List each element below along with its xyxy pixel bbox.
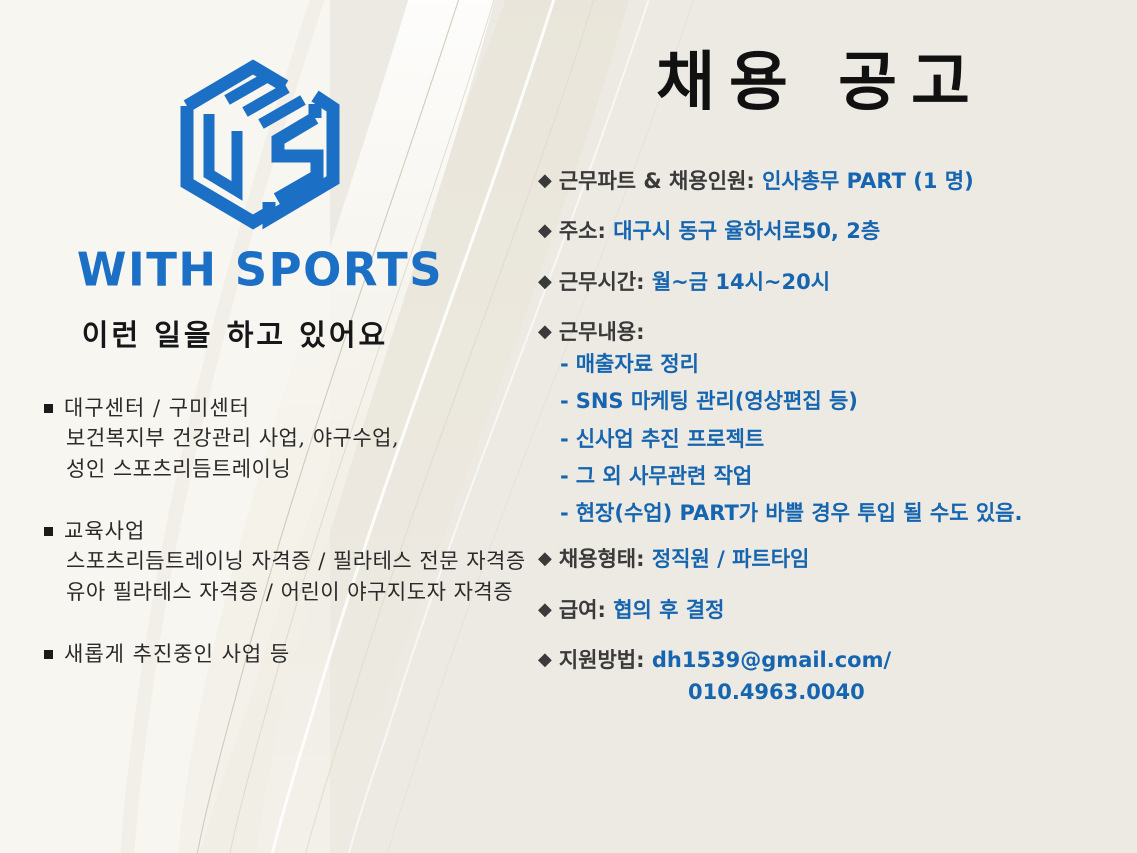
duty-item: -매출자료 정리: [538, 351, 1137, 377]
business-block-line: 성인 스포츠리듬트레이닝: [44, 454, 544, 484]
detail-row-work-part: ◆ 근무파트 & 채용인원: 인사총무 PART (1 명): [538, 168, 1137, 194]
diamond-bullet-icon: ◆: [538, 597, 552, 623]
job-duties-list: -매출자료 정리 -SNS 마케팅 관리(영상편집 등) -신사업 추진 프로젝…: [538, 351, 1137, 526]
diamond-bullet-icon: ◆: [538, 218, 552, 244]
duty-item: -현장(수업) PART가 바쁠 경우 투입 될 수도 있음.: [538, 500, 1137, 526]
with-sports-monogram-icon: [165, 52, 355, 237]
business-block-title-row: 교육사업: [44, 518, 544, 544]
duty-text: 현장(수업) PART가 바쁠 경우 투입 될 수도 있음.: [576, 501, 1023, 525]
diamond-bullet-icon: ◆: [538, 647, 552, 673]
job-details-list: ◆ 근무파트 & 채용인원: 인사총무 PART (1 명) ◆ 주소: 대구시…: [538, 168, 1137, 704]
detail-value: 인사총무 PART (1 명): [762, 168, 974, 194]
dash-bullet-icon: -: [560, 464, 569, 488]
detail-label: 근무내용:: [559, 319, 645, 345]
duty-text: SNS 마케팅 관리(영상편집 등): [576, 389, 858, 413]
detail-label: 지원방법:: [559, 647, 652, 673]
duty-item: -SNS 마케팅 관리(영상편집 등): [538, 388, 1137, 414]
right-column: 채용 공고 ◆ 근무파트 & 채용인원: 인사총무 PART (1 명) ◆ 주…: [520, 0, 1137, 853]
business-block-line: 보건복지부 건강관리 사업, 야구수업,: [44, 423, 544, 453]
detail-row-job-duties-header: ◆ 근무내용:: [538, 319, 1137, 345]
detail-row-salary: ◆ 급여: 협의 후 결정: [538, 597, 1137, 623]
business-block-title-row: 대구센터 / 구미센터: [44, 395, 544, 421]
detail-value: 협의 후 결정: [613, 597, 724, 623]
brand-logo: WITH SPORTS: [0, 52, 520, 292]
duty-item: -신사업 추진 프로젝트: [538, 426, 1137, 452]
detail-value: 대구시 동구 율하서로50, 2층: [613, 218, 880, 244]
duty-text: 매출자료 정리: [576, 352, 699, 376]
detail-label: 근무파트 & 채용인원:: [559, 168, 762, 194]
detail-row-apply-method: ◆ 지원방법: dh1539@gmail.com/: [538, 647, 1137, 673]
dash-bullet-icon: -: [560, 389, 569, 413]
diamond-bullet-icon: ◆: [538, 546, 552, 572]
left-column: WITH SPORTS 이런 일을 하고 있어요 대구센터 / 구미센터 보건복…: [0, 0, 520, 853]
detail-row-work-hours: ◆ 근무시간: 월~금 14시~20시: [538, 269, 1137, 295]
dash-bullet-icon: -: [560, 427, 569, 451]
business-block-title: 새롭게 추진중인 사업 등: [64, 641, 290, 667]
dash-bullet-icon: -: [560, 352, 569, 376]
business-block: 새롭게 추진중인 사업 등: [44, 641, 544, 667]
business-block-title: 대구센터 / 구미센터: [64, 395, 250, 421]
square-bullet-icon: [44, 650, 53, 659]
job-posting-poster: WITH SPORTS 이런 일을 하고 있어요 대구센터 / 구미센터 보건복…: [0, 0, 1137, 853]
detail-value: 정직원 / 파트타임: [652, 546, 810, 572]
detail-label: 근무시간:: [559, 269, 652, 295]
business-block: 대구센터 / 구미센터 보건복지부 건강관리 사업, 야구수업, 성인 스포츠리…: [44, 395, 544, 484]
page-title: 채용 공고: [520, 48, 1120, 118]
detail-row-employment-type: ◆ 채용형태: 정직원 / 파트타임: [538, 546, 1137, 572]
business-block-line: 스포츠리듬트레이닝 자격증 / 필라테스 전문 자격증: [44, 546, 544, 576]
detail-label: 주소:: [559, 218, 613, 244]
detail-value: 월~금 14시~20시: [652, 269, 830, 295]
duty-item: -그 외 사무관련 작업: [538, 463, 1137, 489]
left-business-blocks: 대구센터 / 구미센터 보건복지부 건강관리 사업, 야구수업, 성인 스포츠리…: [44, 395, 544, 702]
contact-phone[interactable]: 010.4963.0040: [538, 680, 1137, 704]
dash-bullet-icon: -: [560, 501, 569, 525]
detail-label: 채용형태:: [559, 546, 652, 572]
contact-email[interactable]: dh1539@gmail.com/: [652, 647, 891, 673]
diamond-bullet-icon: ◆: [538, 319, 552, 345]
diamond-bullet-icon: ◆: [538, 168, 552, 194]
brand-wordmark: WITH SPORTS: [77, 246, 443, 292]
business-block-title-row: 새롭게 추진중인 사업 등: [44, 641, 544, 667]
square-bullet-icon: [44, 527, 53, 536]
business-block-title: 교육사업: [64, 518, 145, 544]
diamond-bullet-icon: ◆: [538, 269, 552, 295]
duty-text: 그 외 사무관련 작업: [576, 464, 753, 488]
square-bullet-icon: [44, 404, 53, 413]
left-section-heading: 이런 일을 하고 있어요: [0, 312, 470, 354]
detail-label: 급여:: [559, 597, 613, 623]
detail-row-address: ◆ 주소: 대구시 동구 율하서로50, 2층: [538, 218, 1137, 244]
business-block-line: 유아 필라테스 자격증 / 어린이 야구지도자 자격증: [44, 577, 544, 607]
business-block: 교육사업 스포츠리듬트레이닝 자격증 / 필라테스 전문 자격증 유아 필라테스…: [44, 518, 544, 607]
duty-text: 신사업 추진 프로젝트: [576, 427, 765, 451]
